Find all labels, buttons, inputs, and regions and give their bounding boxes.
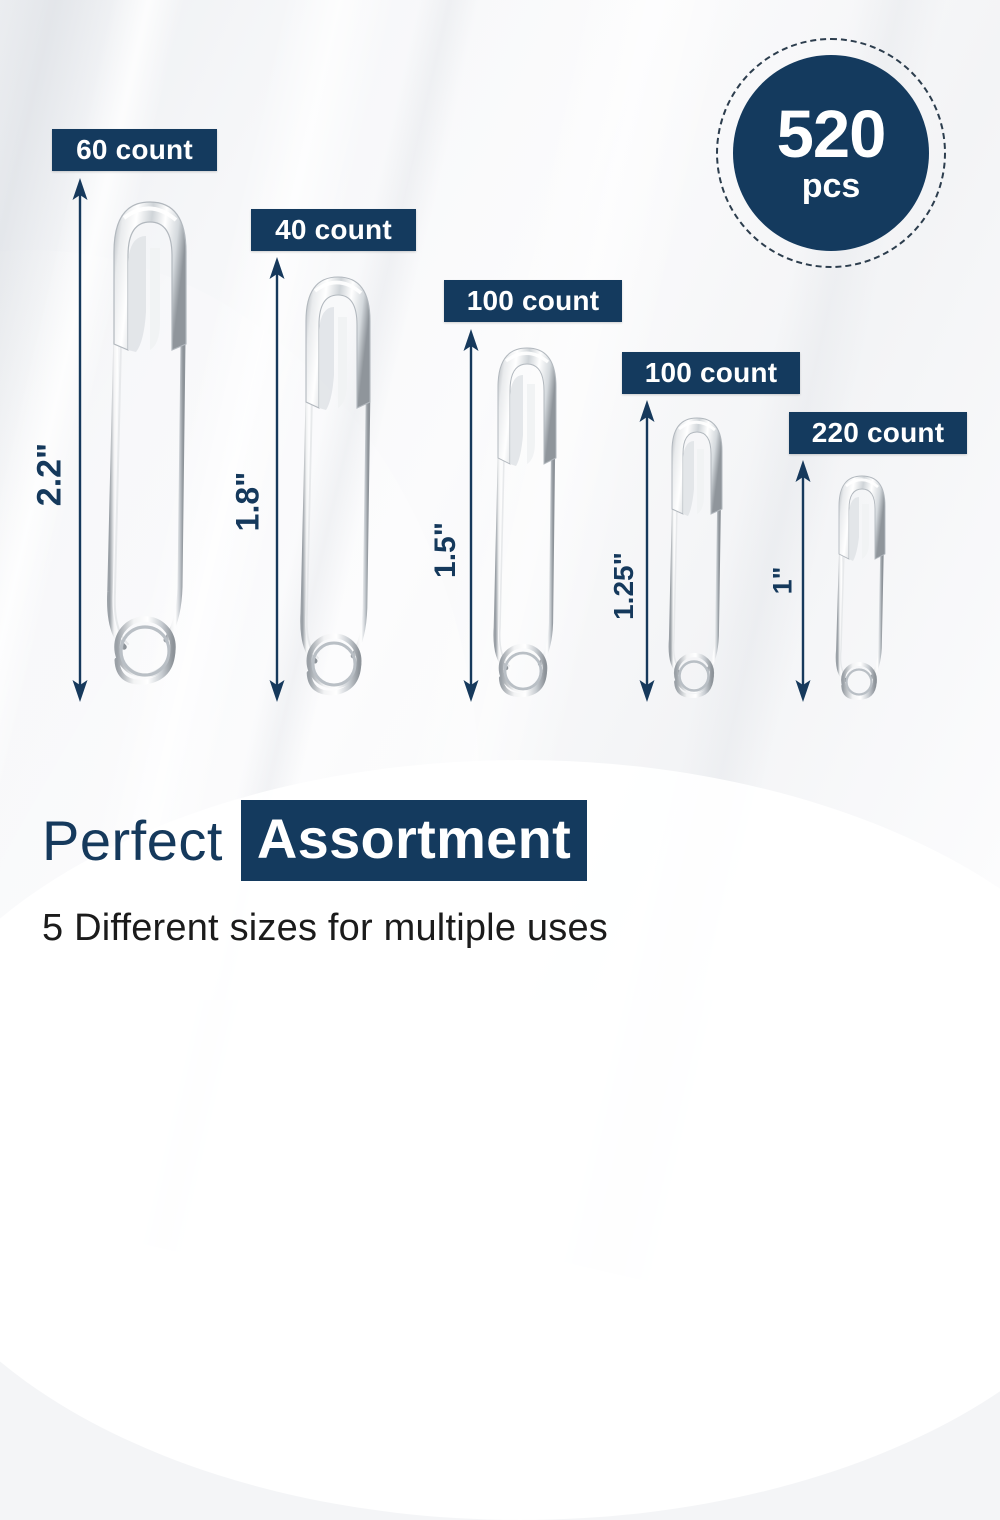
count-label-5: 220 count (789, 412, 967, 454)
badge-disc: 520 pcs (733, 55, 929, 251)
safety-pin-5 (822, 470, 902, 698)
count-label-4-text: 100 count (645, 357, 778, 389)
badge-unit: pcs (802, 169, 861, 203)
footer-subtitle: 5 Different sizes for multiple uses (42, 907, 962, 950)
footer-block: Perfect Assortment 5 Different sizes for… (42, 800, 962, 950)
count-label-3: 100 count (444, 280, 622, 322)
count-label-1: 60 count (52, 129, 217, 171)
headline-row: Perfect Assortment (42, 800, 962, 881)
dimension-label-1: 2.2" (31, 425, 70, 525)
dimension-label-5: 1" (768, 531, 799, 631)
headline-boxed: Assortment (241, 800, 587, 881)
count-label-4: 100 count (622, 352, 800, 394)
safety-pin-1 (88, 192, 213, 692)
dimension-label-2: 1.8" (230, 452, 267, 552)
count-label-5-text: 220 count (812, 417, 945, 449)
badge-count: 520 (777, 103, 886, 167)
dimension-label-3: 1.5" (429, 500, 463, 600)
pcs-badge: 520 pcs (716, 38, 946, 268)
safety-pin-4 (654, 411, 740, 696)
count-label-2-text: 40 count (275, 214, 392, 246)
headline-plain: Perfect (42, 808, 241, 873)
count-label-1-text: 60 count (76, 134, 193, 166)
dimension-label-4: 1.25" (608, 531, 640, 641)
count-label-3-text: 100 count (467, 285, 600, 317)
safety-pin-3 (477, 340, 577, 695)
safety-pin-2 (283, 268, 393, 693)
count-label-2: 40 count (251, 209, 416, 251)
